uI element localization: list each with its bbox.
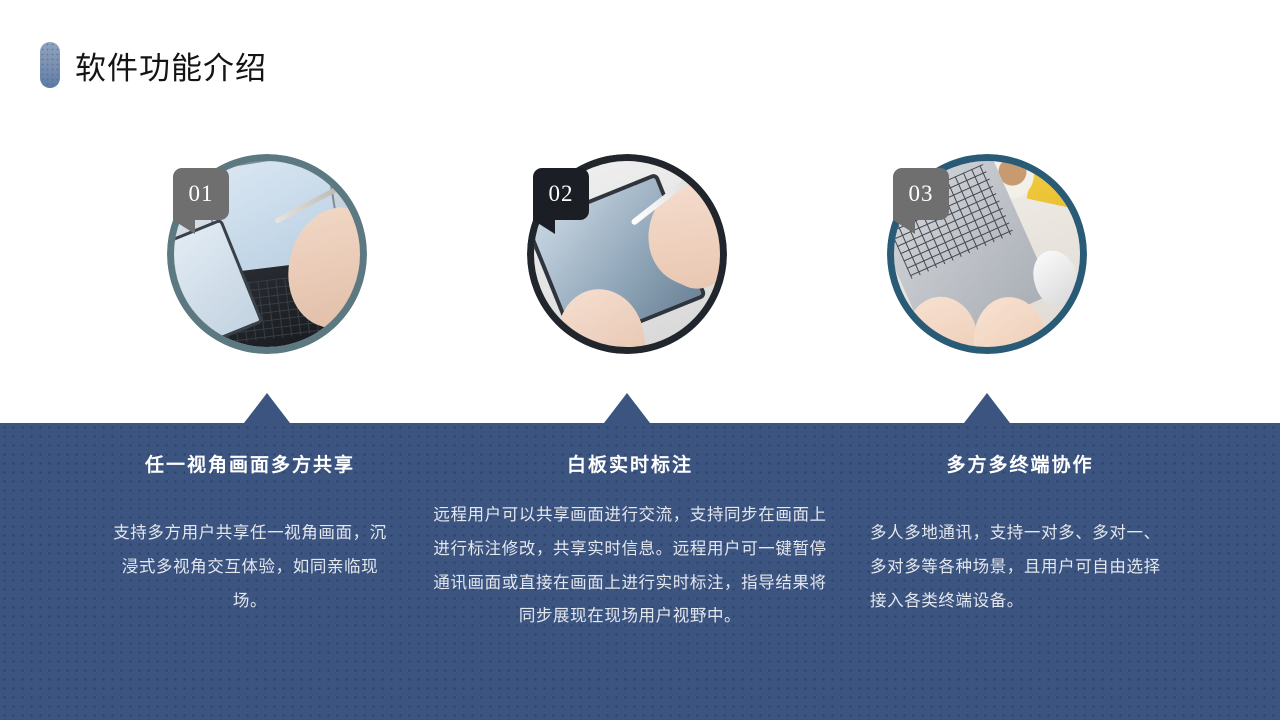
description-column-2: 白板实时标注 远程用户可以共享画面进行交流，支持同步在画面上进行标注修改，共享实… [420, 423, 840, 720]
panel-notch-2 [604, 393, 650, 423]
feature-card-3[interactable]: 03 [887, 154, 1087, 354]
panel-notch-3 [964, 393, 1010, 423]
feature-cards: 01 02 03 [0, 0, 1280, 430]
column-title-3: 多方多终端协作 [870, 450, 1170, 477]
column-body-3: 多人多地通讯，支持一对多、多对一、多对多等各种场景，且用户可自由选择接入各类终端… [870, 499, 1170, 618]
description-column-1: 任一视角画面多方共享 支持多方用户共享任一视角画面，沉浸式多视角交互体验，如同亲… [0, 423, 420, 720]
badge-number-1: 01 [173, 168, 229, 220]
column-title-2: 白板实时标注 [430, 450, 830, 477]
badge-number-2: 02 [533, 168, 589, 220]
column-title-1: 任一视角画面多方共享 [110, 450, 390, 477]
description-panel: 任一视角画面多方共享 支持多方用户共享任一视角画面，沉浸式多视角交互体验，如同亲… [0, 423, 1280, 720]
feature-card-2[interactable]: 02 [527, 154, 727, 354]
feature-card-1[interactable]: 01 [167, 154, 367, 354]
description-columns: 任一视角画面多方共享 支持多方用户共享任一视角画面，沉浸式多视角交互体验，如同亲… [0, 423, 1280, 720]
column-body-1: 支持多方用户共享任一视角画面，沉浸式多视角交互体验，如同亲临现场。 [110, 499, 390, 618]
panel-notch-1 [244, 393, 290, 423]
badge-number-3: 03 [893, 168, 949, 220]
description-column-3: 多方多终端协作 多人多地通讯，支持一对多、多对一、多对多等各种场景，且用户可自由… [840, 423, 1280, 720]
column-body-2: 远程用户可以共享画面进行交流，支持同步在画面上进行标注修改，共享实时信息。远程用… [430, 499, 830, 634]
